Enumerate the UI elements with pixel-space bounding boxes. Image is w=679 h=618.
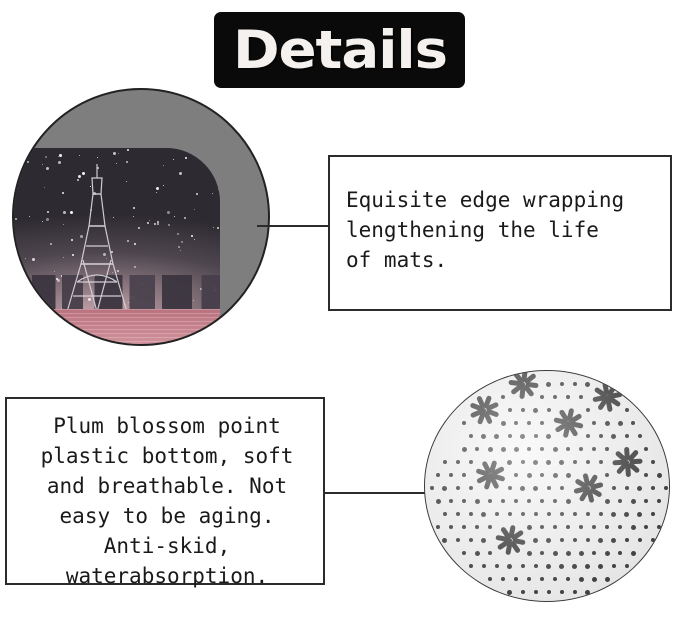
plastic-backing-circle xyxy=(424,370,670,602)
mat-artwork xyxy=(12,148,220,346)
details-banner-title: Details xyxy=(232,24,446,77)
callout-edge-wrapping-text: Equisite edge wrapping lengthening the l… xyxy=(346,185,624,275)
callout-plastic-bottom: Plum blossom point plastic bottom, soft … xyxy=(5,397,325,585)
details-banner: Details xyxy=(214,12,465,88)
connector-line-top xyxy=(257,225,330,227)
plum-blossom-icon xyxy=(571,471,605,505)
callout-plastic-bottom-text: Plum blossom point plastic bottom, soft … xyxy=(7,411,327,591)
plum-blossom-icon xyxy=(551,406,585,440)
callout-edge-wrapping: Equisite edge wrapping lengthening the l… xyxy=(328,155,672,311)
plum-blossom-icon xyxy=(610,445,644,479)
plum-blossom-icon xyxy=(467,393,501,427)
connector-line-bottom xyxy=(323,492,431,494)
plum-blossom-icon xyxy=(493,523,527,557)
plum-blossom-icon xyxy=(590,380,624,414)
mat-photo-circle xyxy=(12,88,270,346)
woman-with-wine-glass xyxy=(12,250,108,346)
detail-page: Details xyxy=(0,0,679,618)
plum-blossom-icon xyxy=(506,370,540,401)
plum-blossom-icon xyxy=(473,458,507,492)
dot-grid xyxy=(425,371,669,601)
